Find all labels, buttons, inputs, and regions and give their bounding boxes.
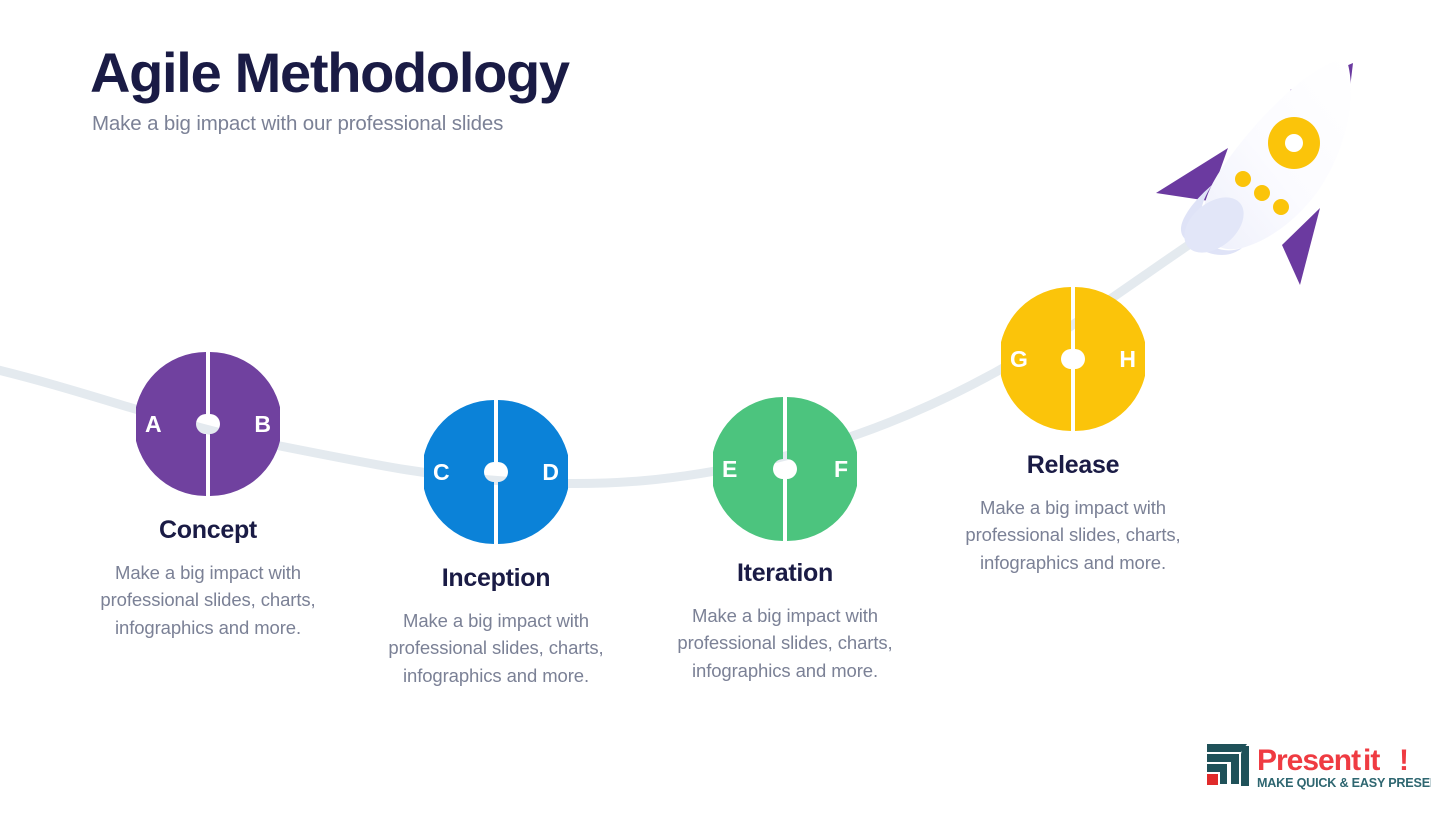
page-title: Agile Methodology (90, 44, 790, 101)
logo-name-present: Present (1257, 744, 1361, 777)
present-it-logo: Present it ! MAKE QUICK & EASY PRESENTAT… (1203, 740, 1431, 792)
donut-release: G H (1001, 287, 1145, 431)
logo-mark (1207, 744, 1249, 786)
donut-inception-letter-right: D (542, 461, 559, 484)
slide-canvas: Agile Methodology Make a big impact with… (0, 0, 1445, 813)
step-iteration-description: Make a big impact with professional slid… (676, 602, 894, 684)
donut-iteration-letter-right: F (834, 458, 848, 481)
donut-release-letter-right: H (1119, 348, 1136, 371)
donut-inception: C D (424, 400, 568, 544)
donut-iteration-letter-left: E (722, 458, 737, 481)
logo-name-exclaim: ! (1399, 744, 1409, 777)
slide-header: Agile Methodology Make a big impact with… (90, 44, 790, 136)
step-inception[interactable]: C D Inception Make a big impact with pro… (366, 400, 626, 689)
step-release[interactable]: G H Release Make a big impact with profe… (943, 287, 1203, 576)
rocket-icon (1142, 45, 1374, 307)
logo-tagline: MAKE QUICK & EASY PRESENTATIONS (1257, 776, 1431, 790)
step-release-title: Release (943, 451, 1203, 480)
donut-inception-letter-left: C (433, 461, 450, 484)
step-release-description: Make a big impact with professional slid… (964, 494, 1182, 576)
donut-concept: A B (136, 352, 280, 496)
step-concept[interactable]: A B Concept Make a big impact with profe… (78, 352, 338, 641)
step-concept-description: Make a big impact with professional slid… (99, 559, 317, 641)
step-concept-title: Concept (78, 516, 338, 545)
logo-name-it: it (1363, 744, 1380, 777)
step-inception-title: Inception (366, 564, 626, 593)
donut-iteration: E F (713, 397, 857, 541)
donut-concept-letter-right: B (254, 413, 271, 436)
step-inception-description: Make a big impact with professional slid… (387, 607, 605, 689)
step-iteration-title: Iteration (655, 559, 915, 588)
donut-concept-letter-left: A (145, 413, 162, 436)
step-iteration[interactable]: E F Iteration Make a big impact with pro… (655, 397, 915, 684)
page-subtitle: Make a big impact with our professional … (92, 112, 790, 136)
donut-release-letter-left: G (1010, 348, 1028, 371)
